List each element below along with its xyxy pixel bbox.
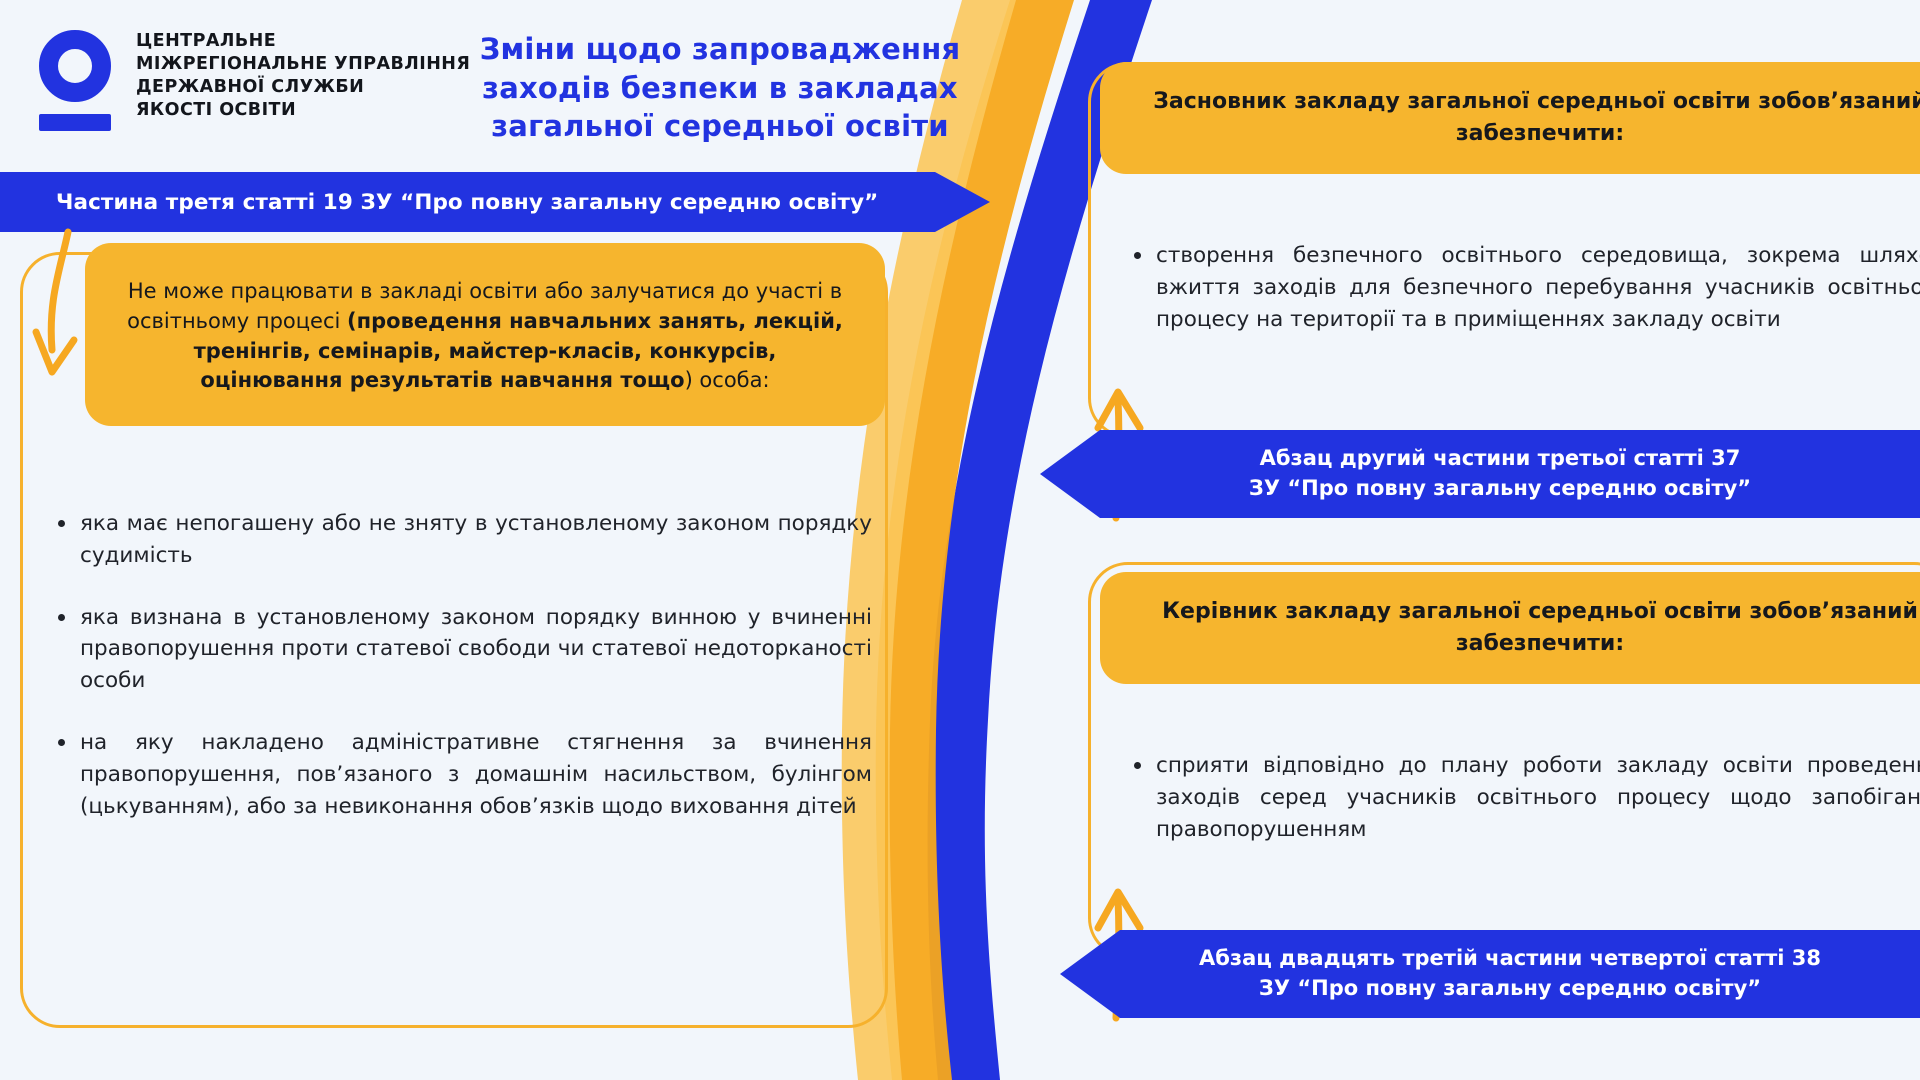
left-law-banner-label: Частина третя статті 19 ЗУ “Про повну за… [56, 190, 878, 215]
list-item: на яку накладено адміністративне стягнен… [52, 727, 872, 822]
logo-ring-icon [39, 30, 111, 102]
list-item: яка має непогашену або не зняту в устано… [52, 508, 872, 572]
right-block2-law-line-1: Абзац двадцять третій частини четвертої … [1199, 944, 1821, 974]
organization-logo: ЦЕНТРАЛЬНЕ МІЖРЕГІОНАЛЬНЕ УПРАВЛІННЯ ДЕР… [38, 24, 470, 131]
right-block1-bullet-list: створення безпечного освітнього середови… [1128, 240, 1920, 335]
right-block1-law-banner: Абзац другий частини третьої статті 37 З… [1040, 430, 1920, 518]
logo-line-3: ДЕРЖАВНОЇ СЛУЖБИ [136, 76, 470, 99]
left-intro-tail: ) особа: [685, 368, 770, 392]
list-item: сприяти відповідно до плану роботи закла… [1128, 750, 1920, 845]
left-bullet-list: яка має непогашену або не зняту в устано… [52, 508, 872, 853]
logo-text: ЦЕНТРАЛЬНЕ МІЖРЕГІОНАЛЬНЕ УПРАВЛІННЯ ДЕР… [136, 30, 470, 122]
right-block2-law-line-2: ЗУ “Про повну загальну середню освіту” [1259, 974, 1761, 1004]
logo-line-2: МІЖРЕГІОНАЛЬНЕ УПРАВЛІННЯ [136, 53, 470, 76]
right-block2-heading: Керівник закладу загальної середньої осв… [1100, 572, 1920, 684]
logo-line-4: ЯКОСТІ ОСВІТИ [136, 99, 470, 122]
right-block2-law-banner: Абзац двадцять третій частини четвертої … [1060, 930, 1920, 1018]
right-block1-heading: Засновник закладу загальної середньої ос… [1100, 62, 1920, 174]
list-item: яка визнана в установленому законом поря… [52, 602, 872, 697]
right-block1-law-line-2: ЗУ “Про повну загальну середню освіту” [1249, 474, 1751, 504]
list-item: створення безпечного освітнього середови… [1128, 240, 1920, 335]
page-title: Зміни щодо запровадження заходів безпеки… [430, 30, 1010, 146]
logo-mark-icon [38, 30, 112, 131]
logo-line-1: ЦЕНТРАЛЬНЕ [136, 30, 470, 53]
left-intro-card: Не може працювати в закладі освіти або з… [85, 243, 885, 426]
left-law-banner: Частина третя статті 19 ЗУ “Про повну за… [0, 172, 990, 232]
right-block2-bullet-list: сприяти відповідно до плану роботи закла… [1128, 750, 1920, 845]
logo-bar-icon [39, 114, 111, 131]
infographic-canvas: ЦЕНТРАЛЬНЕ МІЖРЕГІОНАЛЬНЕ УПРАВЛІННЯ ДЕР… [0, 0, 1920, 1080]
right-block1-law-line-1: Абзац другий частини третьої статті 37 [1260, 444, 1741, 474]
